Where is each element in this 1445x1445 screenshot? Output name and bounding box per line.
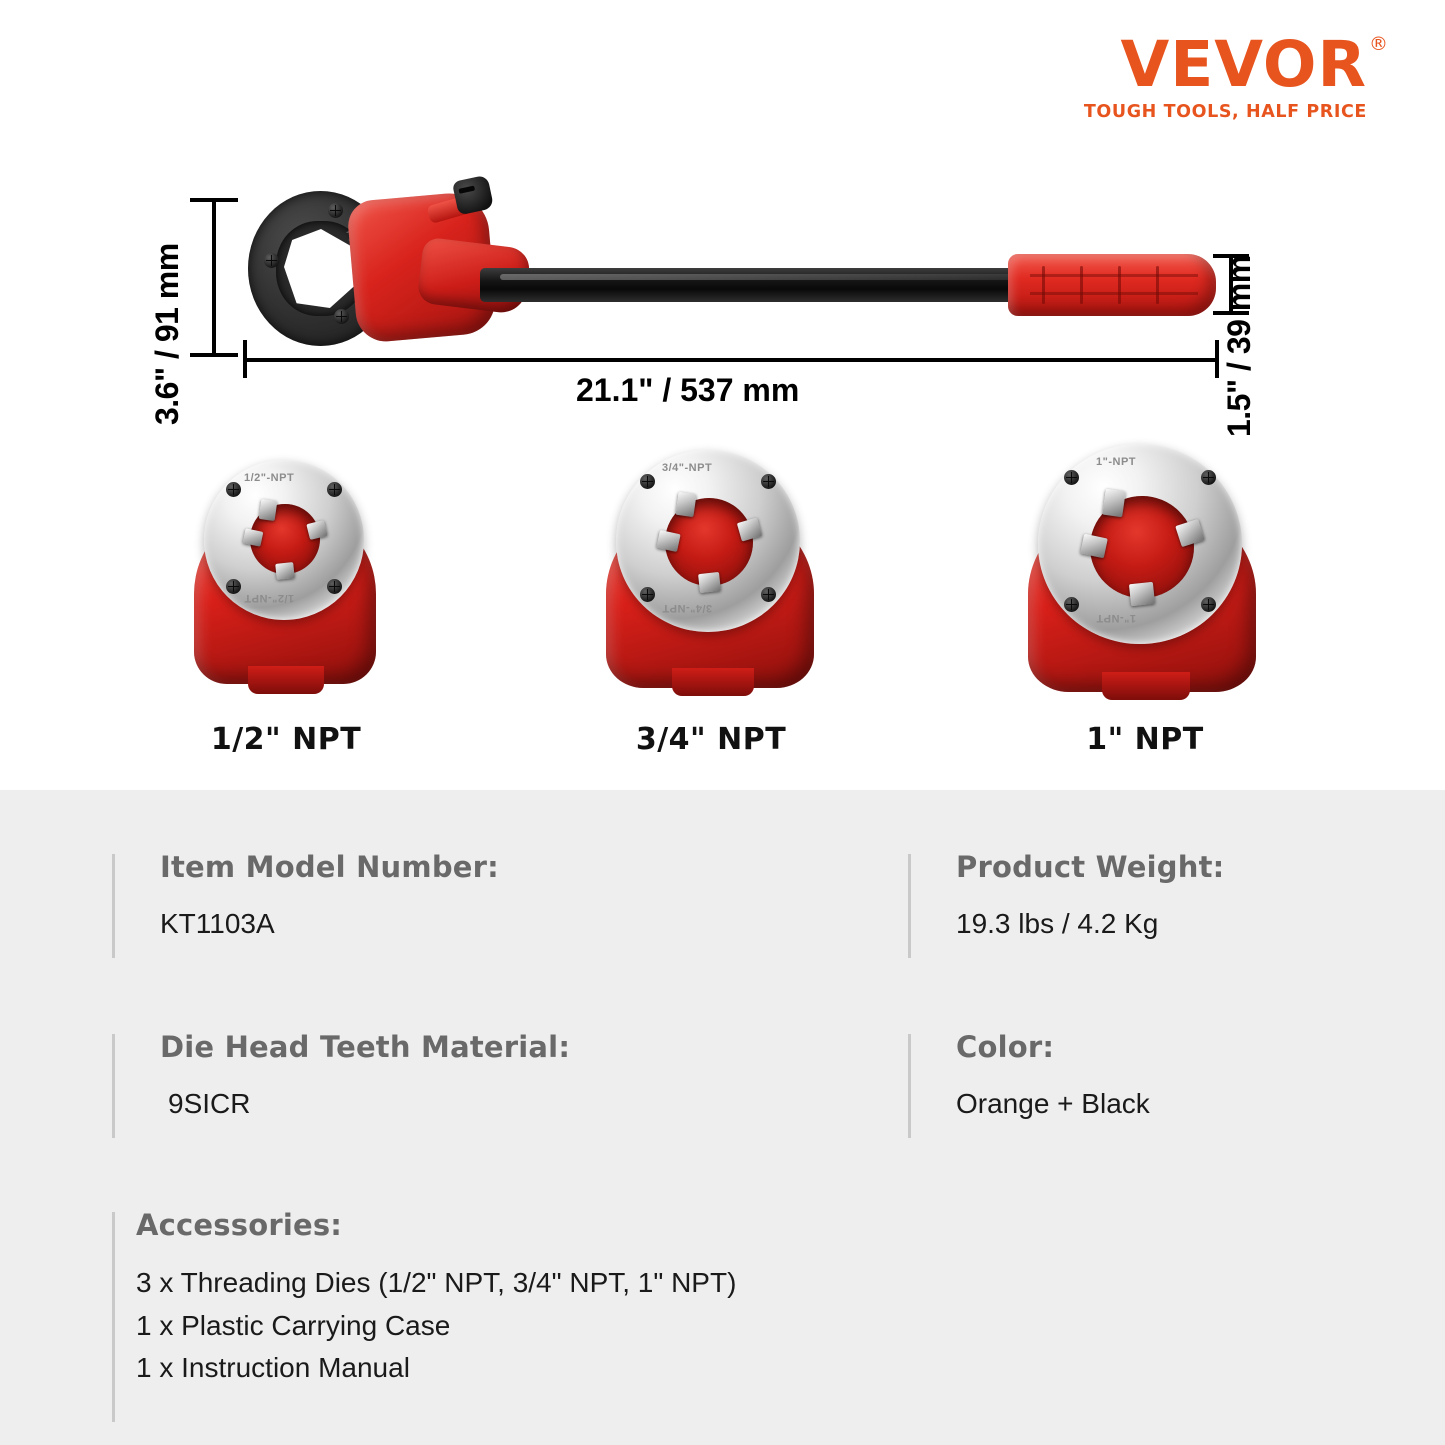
die-stamp-bottom: 1/2"-NPT xyxy=(244,592,294,604)
bottom-dimension-line xyxy=(243,358,1218,362)
die-screw-icon xyxy=(1201,597,1216,612)
shaft-highlight xyxy=(500,274,1020,280)
spec-accent-bar xyxy=(908,1034,911,1138)
spec-accent-bar xyxy=(112,1034,115,1138)
spec-label: Color: xyxy=(956,1030,1408,1064)
spec-product-weight: Product Weight: 19.3 lbs / 4.2 Kg xyxy=(908,850,1408,940)
die-bore xyxy=(1090,496,1194,598)
direction-toggle-knob xyxy=(452,175,494,216)
spec-accessories: Accessories: 3 x Threading Dies (1/2" NP… xyxy=(112,1208,1012,1390)
die-caption-three-quarter-inch: 3/4" NPT xyxy=(551,722,871,757)
pipe-threader-illustration: TYPE 52 3.6" / 91 mm 21.1" / 537 mm xyxy=(0,0,1445,440)
die-caption-half-inch: 1/2" NPT xyxy=(126,722,446,757)
ring-screw-icon xyxy=(264,253,279,268)
right-dimension-label: 1.5" / 39 mm xyxy=(1221,255,1258,437)
die-screw-icon xyxy=(640,587,655,602)
die-foot xyxy=(672,668,754,696)
die-head-three-quarter-inch: 3/4"-NPT 3/4"-NPT xyxy=(598,444,824,694)
spec-color: Color: Orange + Black xyxy=(908,1030,1408,1120)
left-dimension-cap-bottom xyxy=(190,353,238,357)
accessory-item: 1 x Instruction Manual xyxy=(136,1347,1012,1390)
die-foot xyxy=(1102,672,1190,700)
ring-screw-icon xyxy=(328,203,343,218)
bottom-dimension-cap-left xyxy=(243,340,247,378)
die-stamp-bottom: 3/4"-NPT xyxy=(662,602,712,614)
die-bore xyxy=(250,504,320,574)
spec-value: Orange + Black xyxy=(956,1088,1408,1120)
die-foot xyxy=(248,666,324,694)
left-dimension-line xyxy=(212,200,216,355)
die-caption-one-inch: 1" NPT xyxy=(985,722,1305,757)
spec-label: Die Head Teeth Material: xyxy=(160,1030,752,1064)
die-screw-icon xyxy=(640,474,655,489)
ring-screw-icon xyxy=(334,309,349,324)
spec-die-head-teeth-material: Die Head Teeth Material: 9SICR xyxy=(112,1030,752,1120)
bottom-dimension-cap-right xyxy=(1215,340,1219,378)
die-head-half-inch: 1/2"-NPT 1/2"-NPT xyxy=(186,452,386,692)
spec-value: 9SICR xyxy=(160,1088,752,1120)
spec-label: Item Model Number: xyxy=(160,850,752,884)
die-screw-icon xyxy=(327,579,342,594)
spec-accent-bar xyxy=(112,1212,115,1422)
spec-value: 19.3 lbs / 4.2 Kg xyxy=(956,908,1408,940)
die-stamp-top: 1/2"-NPT xyxy=(244,472,294,484)
spec-accent-bar xyxy=(908,854,911,958)
die-chrome-face: 1"-NPT 1"-NPT xyxy=(1038,444,1242,644)
die-screw-icon xyxy=(327,482,342,497)
accessory-item: 3 x Threading Dies (1/2" NPT, 3/4" NPT, … xyxy=(136,1262,1012,1305)
accessory-item: 1 x Plastic Carrying Case xyxy=(136,1305,1012,1348)
spec-label: Accessories: xyxy=(136,1208,1012,1242)
spec-label: Product Weight: xyxy=(956,850,1408,884)
die-stamp-bottom: 1"-NPT xyxy=(1096,612,1136,624)
die-screw-icon xyxy=(1064,470,1079,485)
die-chrome-face: 1/2"-NPT 1/2"-NPT xyxy=(204,460,364,620)
die-head-one-inch: 1"-NPT 1"-NPT xyxy=(1020,438,1266,696)
die-screw-icon xyxy=(761,587,776,602)
specifications-panel: Item Model Number: KT1103A Product Weigh… xyxy=(0,790,1445,1445)
die-screw-icon xyxy=(1201,470,1216,485)
spec-value: KT1103A xyxy=(160,908,752,940)
bottom-dimension-label: 21.1" / 537 mm xyxy=(576,372,799,409)
die-screw-icon xyxy=(761,474,776,489)
die-stamp-top: 3/4"-NPT xyxy=(662,462,712,474)
red-grip-handle xyxy=(1008,254,1216,316)
die-screw-icon xyxy=(226,482,241,497)
die-stamp-top: 1"-NPT xyxy=(1096,456,1136,468)
die-chrome-face: 3/4"-NPT 3/4"-NPT xyxy=(616,450,800,632)
spec-accent-bar xyxy=(112,854,115,958)
die-bore xyxy=(665,498,753,586)
product-image-section: VEVOR ® TOUGH TOOLS, HALF PRICE TYPE 52 xyxy=(0,0,1445,790)
left-dimension-cap-top xyxy=(190,198,238,202)
die-screw-icon xyxy=(226,579,241,594)
spec-item-model-number: Item Model Number: KT1103A xyxy=(112,850,752,940)
die-screw-icon xyxy=(1064,597,1079,612)
left-dimension-label: 3.6" / 91 mm xyxy=(149,243,186,425)
